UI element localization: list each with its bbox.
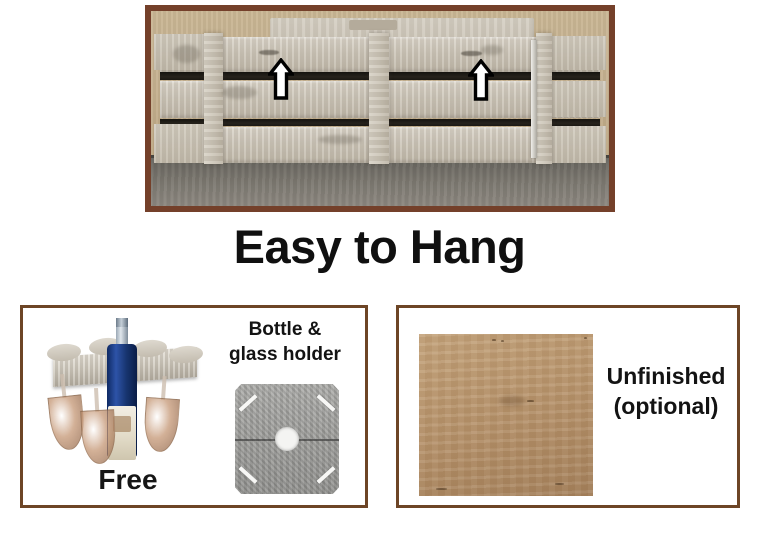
- wood-fleck: [501, 340, 504, 342]
- wine-glass: [79, 387, 117, 465]
- rack-board-end-right-middle: [549, 81, 606, 117]
- page-title: Easy to Hang: [0, 222, 759, 271]
- wine-glass-bowl: [142, 397, 180, 453]
- holder-plate-slot: [316, 466, 335, 484]
- metal-strap: [531, 40, 537, 158]
- wood-fleck: [527, 400, 534, 402]
- holder-caption-line-1: Bottle &: [209, 318, 361, 343]
- wine-bottle-cap: [116, 318, 128, 327]
- rack-stile-right: [536, 33, 552, 164]
- weathering-mark: [173, 45, 199, 63]
- callout-arrow-up-icon: [468, 59, 494, 101]
- rack-stile-left: [204, 33, 222, 164]
- unfinished-caption: Unfinished (optional): [595, 361, 737, 422]
- holder-caption-line-2: glass holder: [209, 343, 361, 368]
- wine-glass-bowl: [80, 409, 117, 465]
- rack-board-end-left-lower: [154, 124, 207, 163]
- holder-plate-photo: [235, 384, 339, 494]
- holder-plate-slot: [238, 394, 257, 412]
- keyhole-hanger-left: [259, 50, 279, 55]
- pallet-wine-rack: [160, 34, 600, 163]
- unfinished-caption-line-2: (optional): [595, 391, 737, 421]
- weathering-mark: [222, 86, 257, 99]
- panel-free-holder: Free Bottle & glass holder: [20, 305, 368, 508]
- unfinished-wood-swatch: [419, 334, 593, 496]
- panel-unfinished-option: Unfinished (optional): [396, 305, 740, 508]
- free-label: Free: [53, 464, 203, 496]
- wine-glass-stem: [161, 376, 167, 400]
- holder-plate-slot: [316, 394, 335, 412]
- wood-fleck: [584, 337, 587, 339]
- rack-board-end-right-upper: [549, 36, 606, 71]
- holder-plate-slot: [238, 466, 257, 484]
- wood-knot: [499, 396, 525, 406]
- wood-fleck: [492, 339, 496, 341]
- weathering-mark: [481, 45, 503, 55]
- wine-rack-photo: [151, 11, 609, 206]
- wine-glass: [142, 375, 181, 453]
- keyhole-hanger-right: [461, 51, 481, 56]
- wine-glass-stem: [60, 374, 66, 398]
- wood-fleck: [555, 483, 564, 485]
- rack-stile-center: [369, 33, 389, 164]
- weathering-mark: [318, 135, 362, 144]
- callout-arrow-up-icon: [268, 58, 294, 100]
- hero-photo-frame: [145, 5, 615, 212]
- rack-board-end-right-lower: [549, 126, 606, 163]
- holder-caption: Bottle & glass holder: [209, 318, 361, 367]
- wood-fleck: [436, 488, 447, 490]
- holder-plate-center-hole: [275, 427, 299, 451]
- unfinished-caption-line-1: Unfinished: [595, 361, 737, 391]
- wine-glass-stem: [94, 388, 99, 412]
- product-feature-graphic: Easy to Hang: [0, 0, 759, 540]
- bottle-glass-holder-photo: [45, 316, 205, 466]
